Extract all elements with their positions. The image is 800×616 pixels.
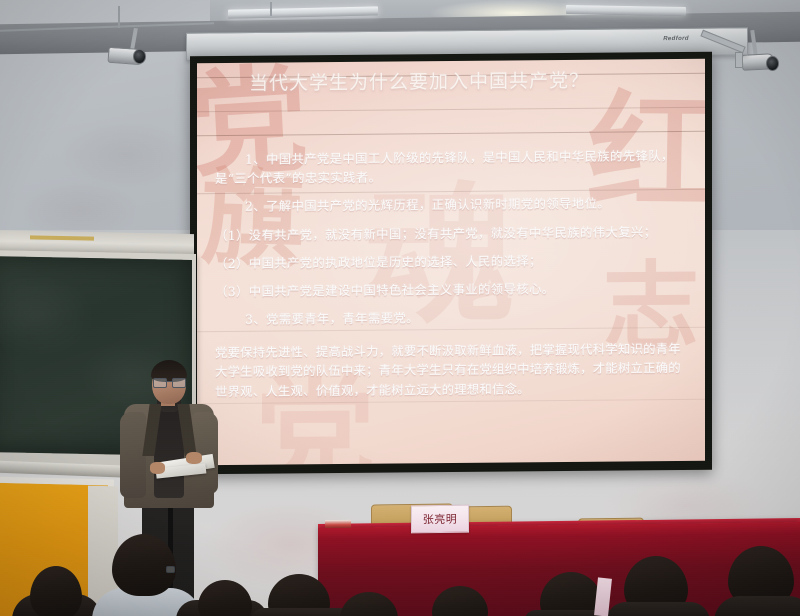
speaker-hand-left [150,462,165,474]
speaker-glasses [153,378,185,387]
audience-body [250,608,354,616]
slide-line: （1）没有共产党，就没有新中国；没有共产党，就没有中华民族的伟大复兴； [215,222,691,245]
slide-line: 3、党需要青年，青年需要党。 [215,306,691,329]
projected-slide: 党 旗 魂 红 志 党 当代大学生为什么要加入中国共产党？ 1、中国共产党是中国… [197,59,705,465]
slide-line: （3）中国共产党是建设中国特色社会主义事业的领导核心。 [215,278,691,301]
audience-body [606,602,710,616]
ceiling-conduit [270,2,272,16]
booklet-on-table [325,520,351,528]
screen-mount-arm [735,52,743,68]
slide-body: 1、中国共产党是中国工人阶级的先锋队，是中国人民和中华民族的先锋队， 是“三个代… [215,137,691,402]
slide-line: （2）中国共产党的执政地位是历史的选择、人民的选择； [215,250,691,273]
classroom-photo: Redford 党 旗 魂 红 志 党 当代大学生为什么要加入中国共产党？ [0,0,800,616]
ceiling-conduit [118,6,120,28]
slide-line: 2、了解中国共产党的光辉历程，正确认识新时期党的领导地位。 [215,193,691,216]
audience-glasses [166,566,175,573]
projection-screen: 党 旗 魂 红 志 党 当代大学生为什么要加入中国共产党？ 1、中国共产党是中国… [190,52,712,475]
camera-lens-icon [133,49,146,64]
speaker-hand-right [186,452,202,464]
name-placard-text: 张亮明 [423,513,458,524]
audience-head [112,534,176,596]
slide-paragraph: 党要保持先进性、提高战斗力，就要不断汲取新鲜血液，把掌握现代科学知识的青年大学生… [215,338,691,402]
camera-lens-icon [766,56,779,71]
slide-line: 是“三个代表”的忠实实践者。 [215,165,691,188]
audience-body [714,596,800,616]
name-placard: 张亮明 [411,505,469,534]
screen-brand-label: Redford [663,36,689,42]
slide-text-layer: 当代大学生为什么要加入中国共产党？ 1、中国共产党是中国工人阶级的先锋队，是中国… [197,59,705,465]
slide-title: 当代大学生为什么要加入中国共产党？ [249,66,589,96]
